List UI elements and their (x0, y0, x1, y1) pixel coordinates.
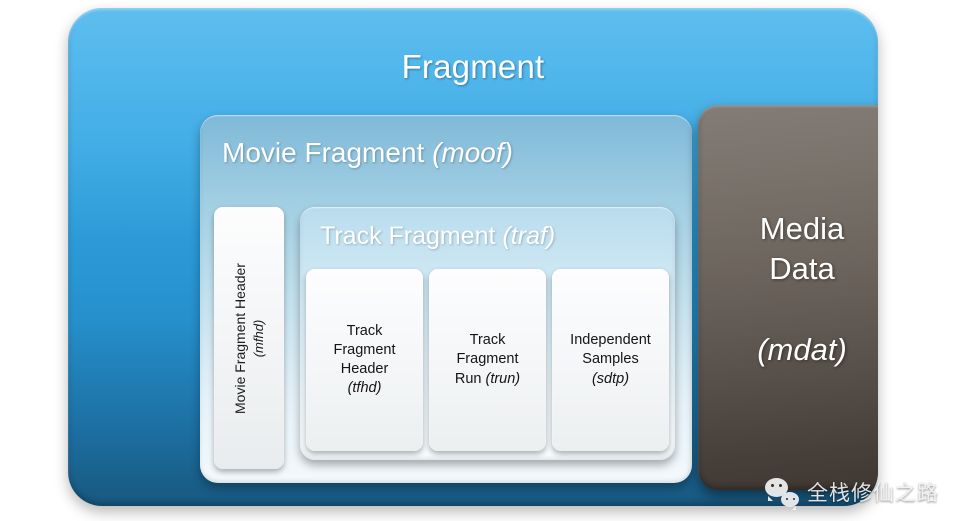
mdat-code: (mdat) (757, 330, 847, 370)
moof-code: (moof) (432, 137, 513, 168)
tfhd-line3: Header (341, 361, 389, 377)
diagram-canvas: Fragment Movie Fragment (moof) Movie Fra… (0, 0, 953, 521)
wechat-eye-1 (771, 484, 774, 487)
tfhd-line2: Fragment (333, 342, 395, 358)
trun-code: (trun) (485, 371, 520, 387)
fragment-box: Fragment Movie Fragment (moof) Movie Fra… (68, 8, 878, 506)
sdtp-line1: Independent (570, 332, 651, 348)
trun-line3: Run (455, 371, 486, 387)
mfhd-box: Movie Fragment Header (mfhd) (214, 207, 284, 469)
tfhd-box: Track Fragment Header (tfhd) (306, 269, 423, 451)
tfhd-code: (tfhd) (348, 380, 382, 396)
mdat-box: Media Data (mdat) (698, 105, 878, 490)
fragment-title: Fragment (68, 48, 878, 86)
moof-label: Movie Fragment (222, 137, 424, 168)
sdtp-code: (sdtp) (592, 371, 629, 387)
sdtp-line2: Samples (582, 351, 638, 367)
wechat-eye-2 (779, 484, 782, 487)
mfhd-label: Movie Fragment Header (232, 263, 248, 414)
mdat-line2: Data (769, 251, 834, 286)
trun-box: Track Fragment Run (trun) (429, 269, 546, 451)
watermark: 全栈修仙之路 (765, 477, 939, 507)
trun-text: Track Fragment Run (trun) (455, 331, 520, 388)
traf-code: (traf) (502, 222, 555, 250)
wechat-eye-3 (786, 498, 789, 501)
mdat-text: Media Data (mdat) (757, 209, 847, 370)
wechat-eye-4 (793, 498, 796, 501)
traf-box: Track Fragment (traf) Track Fragment Hea… (300, 207, 675, 460)
sdtp-text: Independent Samples (sdtp) (570, 331, 651, 388)
tfhd-line1: Track (347, 323, 383, 339)
moof-title: Movie Fragment (moof) (222, 137, 513, 169)
traf-leaf-row: Track Fragment Header (tfhd) Track Fragm… (306, 269, 669, 451)
traf-label: Track Fragment (320, 222, 496, 250)
wechat-bubble-small (781, 492, 799, 507)
tfhd-text: Track Fragment Header (tfhd) (333, 322, 395, 399)
mfhd-code: (mfhd) (250, 319, 265, 357)
trun-line2: Fragment (456, 351, 518, 367)
traf-title: Track Fragment (traf) (320, 222, 555, 251)
moof-box: Movie Fragment (moof) Movie Fragment Hea… (200, 115, 692, 483)
trun-line1: Track (470, 332, 506, 348)
mdat-line1: Media (760, 211, 844, 246)
wechat-icon (765, 477, 799, 507)
watermark-text: 全栈修仙之路 (807, 477, 939, 507)
mfhd-text: Movie Fragment Header (mfhd) (232, 263, 267, 414)
sdtp-box: Independent Samples (sdtp) (552, 269, 669, 451)
